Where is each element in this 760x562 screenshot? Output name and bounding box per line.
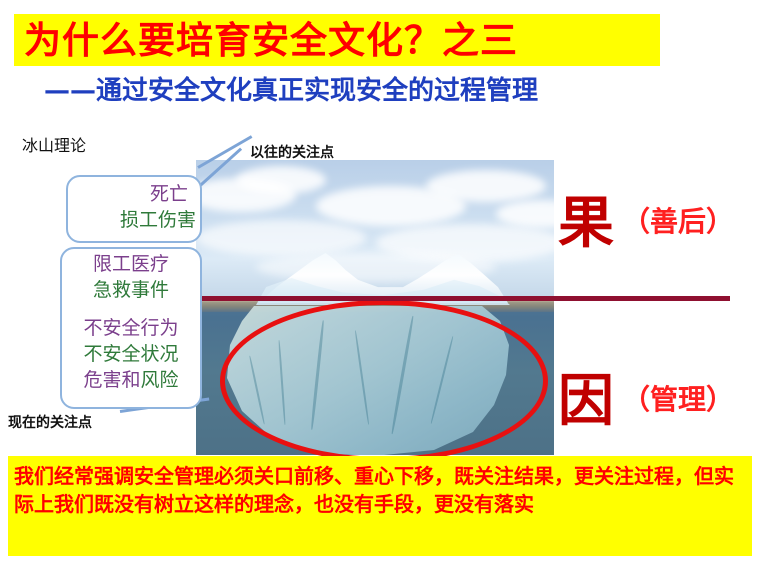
page-title: 为什么要培育安全文化？之三: [24, 16, 664, 64]
cloud-shape: [426, 170, 546, 202]
label-past-focus: 以往的关注点: [250, 142, 334, 162]
red-ellipse-highlight: [220, 300, 548, 462]
callout-line-hazard-risk: 危害和风险: [60, 368, 202, 392]
callout-line-fatality: 死亡: [66, 182, 202, 206]
callout-hazard-text: 危害和: [83, 369, 140, 391]
annotation-cause-word: 因: [558, 356, 614, 437]
callout-risk-text: 风险: [141, 369, 179, 391]
bottom-banner-text: 我们经常强调安全管理必须关口前移、重心下移，既关注结果，更关注过程，但实际上我们…: [14, 462, 750, 518]
cloud-shape: [196, 220, 366, 256]
slide-canvas: 为什么要培育安全文化？之三 ——通过安全文化真正实现安全的过程管理 冰山理论 以…: [0, 0, 760, 562]
callout-line-first-aid: 急救事件: [60, 278, 202, 302]
annotation-result-word: 果: [558, 178, 614, 259]
callout-line-unsafe-behavior: 不安全行为: [60, 316, 202, 340]
page-subtitle: ——通过安全文化真正实现安全的过程管理: [44, 76, 744, 106]
callout-line-unsafe-condition: 不安全状况: [60, 342, 202, 366]
annotation-result-paren: （善后）: [622, 200, 734, 240]
callout-line-restricted-work: 限工医疗: [60, 252, 202, 276]
callout-line-lost-time-injury: 损工伤害: [66, 208, 202, 232]
label-current-focus: 现在的关注点: [8, 412, 92, 432]
label-iceberg-theory: 冰山理论: [22, 132, 86, 156]
annotation-cause-paren: （管理）: [622, 378, 734, 418]
cloud-shape: [236, 166, 326, 194]
